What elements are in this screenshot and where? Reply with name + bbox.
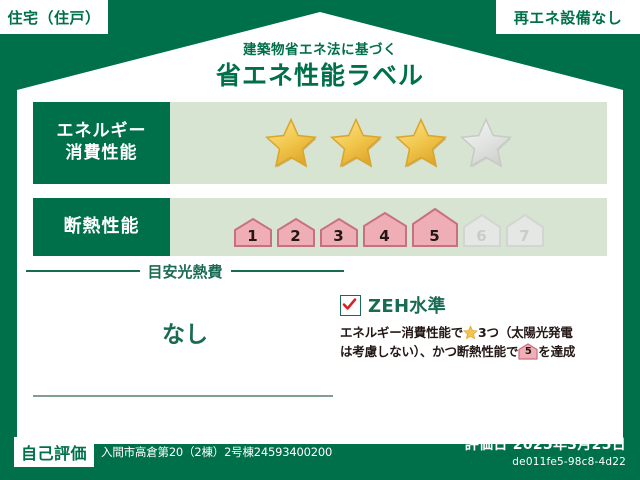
inline-chip-value: 5 — [518, 344, 538, 360]
utility-cost-heading-text: 目安光熱費 — [148, 261, 223, 282]
energy-performance-label-key: エネルギー 消費性能 — [33, 102, 170, 184]
insulation-level-value: 7 — [505, 227, 545, 245]
insulation-level-value: 3 — [319, 227, 359, 245]
utility-cost-heading: 目安光熱費 — [26, 262, 344, 280]
zeh-description: エネルギー消費性能で 3つ（太陽光発電 は考慮しない）、かつ断熱性能で 5を達成 — [340, 323, 615, 362]
evaluation-date: 評価日 2025年3月25日 — [465, 434, 626, 454]
insulation-level-chip-7: 7 — [505, 213, 545, 247]
renewable-energy-tag: 再エネ設備なし — [496, 0, 640, 34]
heading-rule-left — [26, 270, 140, 272]
zeh-heading: ZEH水準 — [340, 292, 615, 318]
star-rating — [264, 117, 513, 169]
insulation-performance-row: 断熱性能 1234567 — [33, 198, 607, 256]
evaluation-id: de011fe5-98c8-4d22 — [465, 456, 626, 468]
star-filled-icon — [394, 117, 448, 169]
insulation-level-value: 5 — [411, 227, 459, 245]
checkbox-checked-icon — [340, 295, 361, 316]
inline-star-icon — [463, 325, 478, 340]
insulation-level-value: 2 — [276, 227, 316, 245]
footer-right: 評価日 2025年3月25日 de011fe5-98c8-4d22 — [465, 434, 626, 468]
footer-divider — [33, 395, 333, 397]
energy-performance-label: 住宅（住戸） 再エネ設備なし 建築物省エネ法に基づく 省エネ性能ラベル エネルギ… — [0, 0, 640, 480]
insulation-level-value: 6 — [462, 227, 502, 245]
building-type-tag: 住宅（住戸） — [0, 0, 108, 34]
insulation-label: 断熱性能 — [64, 215, 140, 238]
star-empty-icon — [459, 117, 513, 169]
insulation-level-chip-4: 4 — [362, 211, 408, 247]
zeh-desc-part1: エネルギー消費性能で — [340, 325, 463, 340]
zeh-desc-part2: は考慮しない）、かつ断熱性能で — [340, 344, 518, 359]
insulation-level-chip-6: 6 — [462, 213, 502, 247]
property-address: 入間市高倉第20（2棟）2号棟24593400200 — [101, 444, 332, 460]
insulation-level-value: 1 — [233, 227, 273, 245]
energy-label-line1: エネルギー — [57, 121, 147, 143]
insulation-level-chip-3: 3 — [319, 217, 359, 247]
energy-label-line2: 消費性能 — [66, 143, 138, 165]
insulation-level-value: 4 — [362, 227, 408, 245]
label-subtitle: 建築物省エネ法に基づく — [0, 38, 640, 58]
insulation-performance-value: 1234567 — [170, 198, 607, 256]
star-filled-icon — [329, 117, 383, 169]
insulation-performance-label-key: 断熱性能 — [33, 198, 170, 256]
insulation-level-scale: 1234567 — [233, 207, 545, 247]
energy-performance-value — [170, 102, 607, 184]
utility-cost-value: なし — [26, 315, 344, 349]
heading-rule-right — [231, 270, 345, 272]
star-filled-icon — [264, 117, 318, 169]
insulation-level-chip-5: 5 — [411, 207, 459, 247]
energy-performance-row: エネルギー 消費性能 — [33, 102, 607, 184]
zeh-desc-part3: を達成 — [538, 344, 575, 359]
zeh-standard-block: ZEH水準 エネルギー消費性能で 3つ（太陽光発電 は考慮しない）、かつ断熱性能… — [340, 292, 615, 362]
footer-left: 自己評価 入間市高倉第20（2棟）2号棟24593400200 — [14, 437, 332, 467]
evaluation-type-badge: 自己評価 — [14, 437, 94, 467]
insulation-level-chip-2: 2 — [276, 217, 316, 247]
page-title: 省エネ性能ラベル — [0, 56, 640, 92]
insulation-level-chip-1: 1 — [233, 217, 273, 247]
zeh-desc-stars: 3つ（太陽光発電 — [478, 325, 573, 340]
inline-insulation-chip-icon: 5 — [518, 343, 538, 360]
zeh-title: ZEH水準 — [368, 292, 446, 318]
